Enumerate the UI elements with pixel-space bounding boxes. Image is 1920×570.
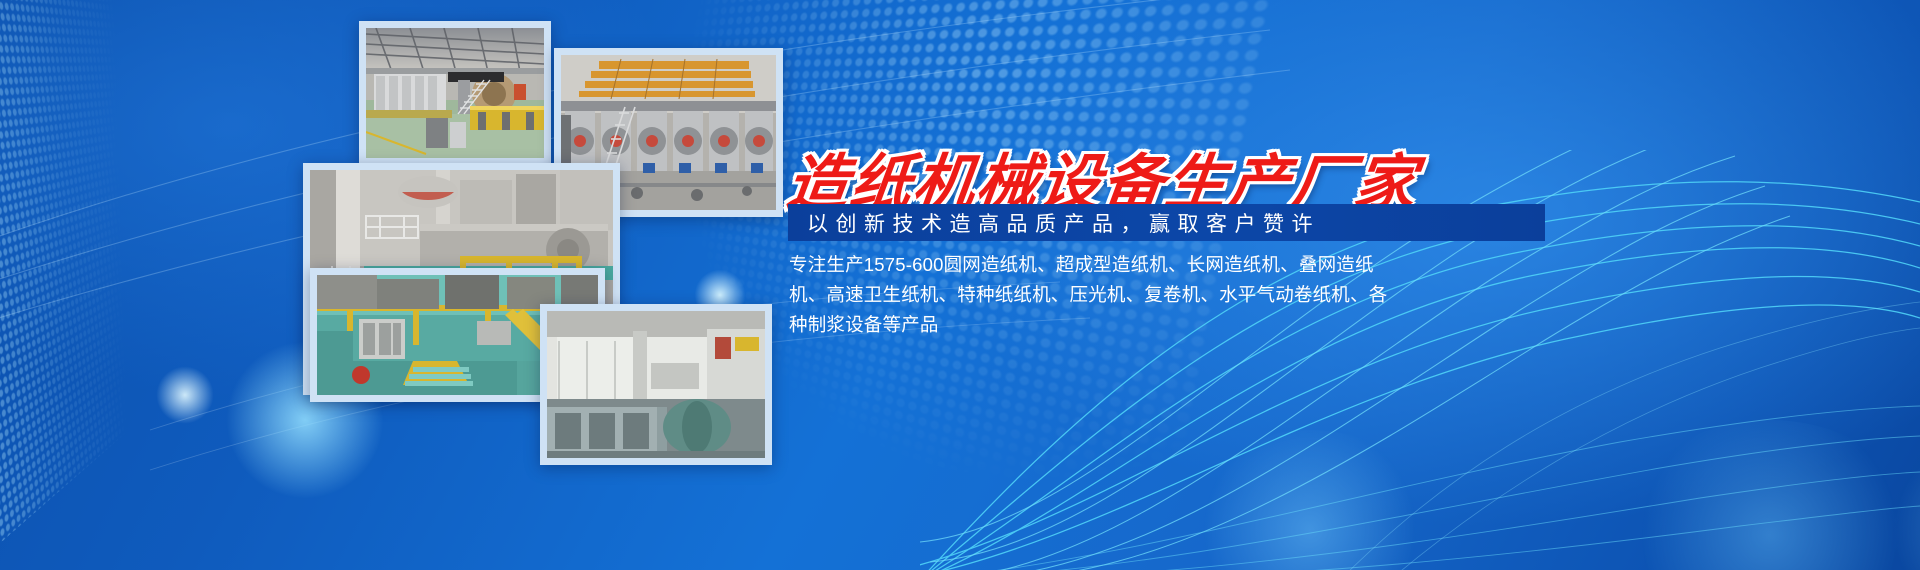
photo-image (547, 311, 765, 458)
description-paragraph: 专注生产1575-600圆网造纸机、超成型造纸机、长网造纸机、叠网造纸 机、高速… (789, 250, 1273, 340)
photo-paper-machine-workshop-overview (359, 21, 551, 165)
description-line: 种制浆设备等产品 (789, 310, 1273, 340)
description-line: 机、高速卫生纸机、特种纸纸机、压光机、复卷机、水平气动卷纸机、各 (789, 280, 1273, 310)
subtitle-bar: 以创新技术造高品质产品，赢取客户赞许 (788, 204, 1545, 241)
photo-image (366, 28, 544, 158)
description-line: 专注生产1575-600圆网造纸机、超成型造纸机、长网造纸机、叠网造纸 (789, 250, 1273, 280)
photo-paper-roll-winder (540, 304, 772, 465)
hero-banner: 造纸机械设备生产厂家 以创新技术造高品质产品，赢取客户赞许 专注生产1575-6… (0, 0, 1920, 570)
subtitle-text: 以创新技术造高品质产品，赢取客户赞许 (788, 208, 1320, 238)
